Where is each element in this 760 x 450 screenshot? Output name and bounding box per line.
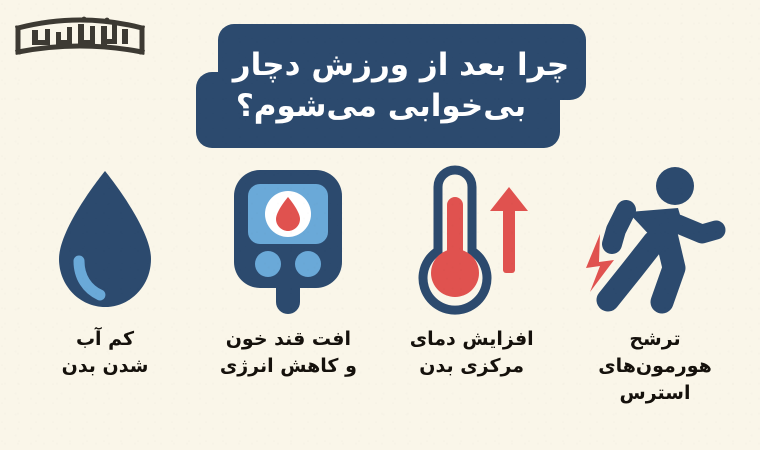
reason-column-dehydration: کم آب شدن بدن [14,160,196,380]
reason-caption: افت قند خون و کاهش انرژی [220,326,357,380]
reason-column-stress-hormones: ترشح هورمون‌های استرس [564,160,746,407]
title-banner: چرا بعد از ورزش دچار بی‌خوابی می‌شوم؟ [196,24,586,148]
glucometer-icon [226,160,350,320]
thermometer-rising-icon [408,160,536,320]
infographic-canvas: چرا بعد از ورزش دچار بی‌خوابی می‌شوم؟ کم… [0,0,760,450]
reason-column-core-temperature: افزایش دمای مرکزی بدن [381,160,563,380]
water-drop-icon [47,160,163,320]
brand-logo [12,10,148,64]
page-title: چرا بعد از ورزش دچار بی‌خوابی می‌شوم؟ [196,24,586,148]
reason-caption: کم آب شدن بدن [62,326,149,380]
reasons-row: کم آب شدن بدن افت قند خون و کاهش انرژی [0,160,760,450]
page-title-line-2: بی‌خوابی می‌شوم؟ [236,87,526,126]
reason-caption: ترشح هورمون‌های استرس [598,326,712,407]
brand-logo-calligraphy-icon [12,10,148,64]
reason-caption: افزایش دمای مرکزی بدن [410,326,534,380]
reason-column-blood-sugar: افت قند خون و کاهش انرژی [197,160,379,380]
running-person-icon [580,160,730,320]
page-title-line-1: چرا بعد از ورزش دچار [233,46,569,85]
